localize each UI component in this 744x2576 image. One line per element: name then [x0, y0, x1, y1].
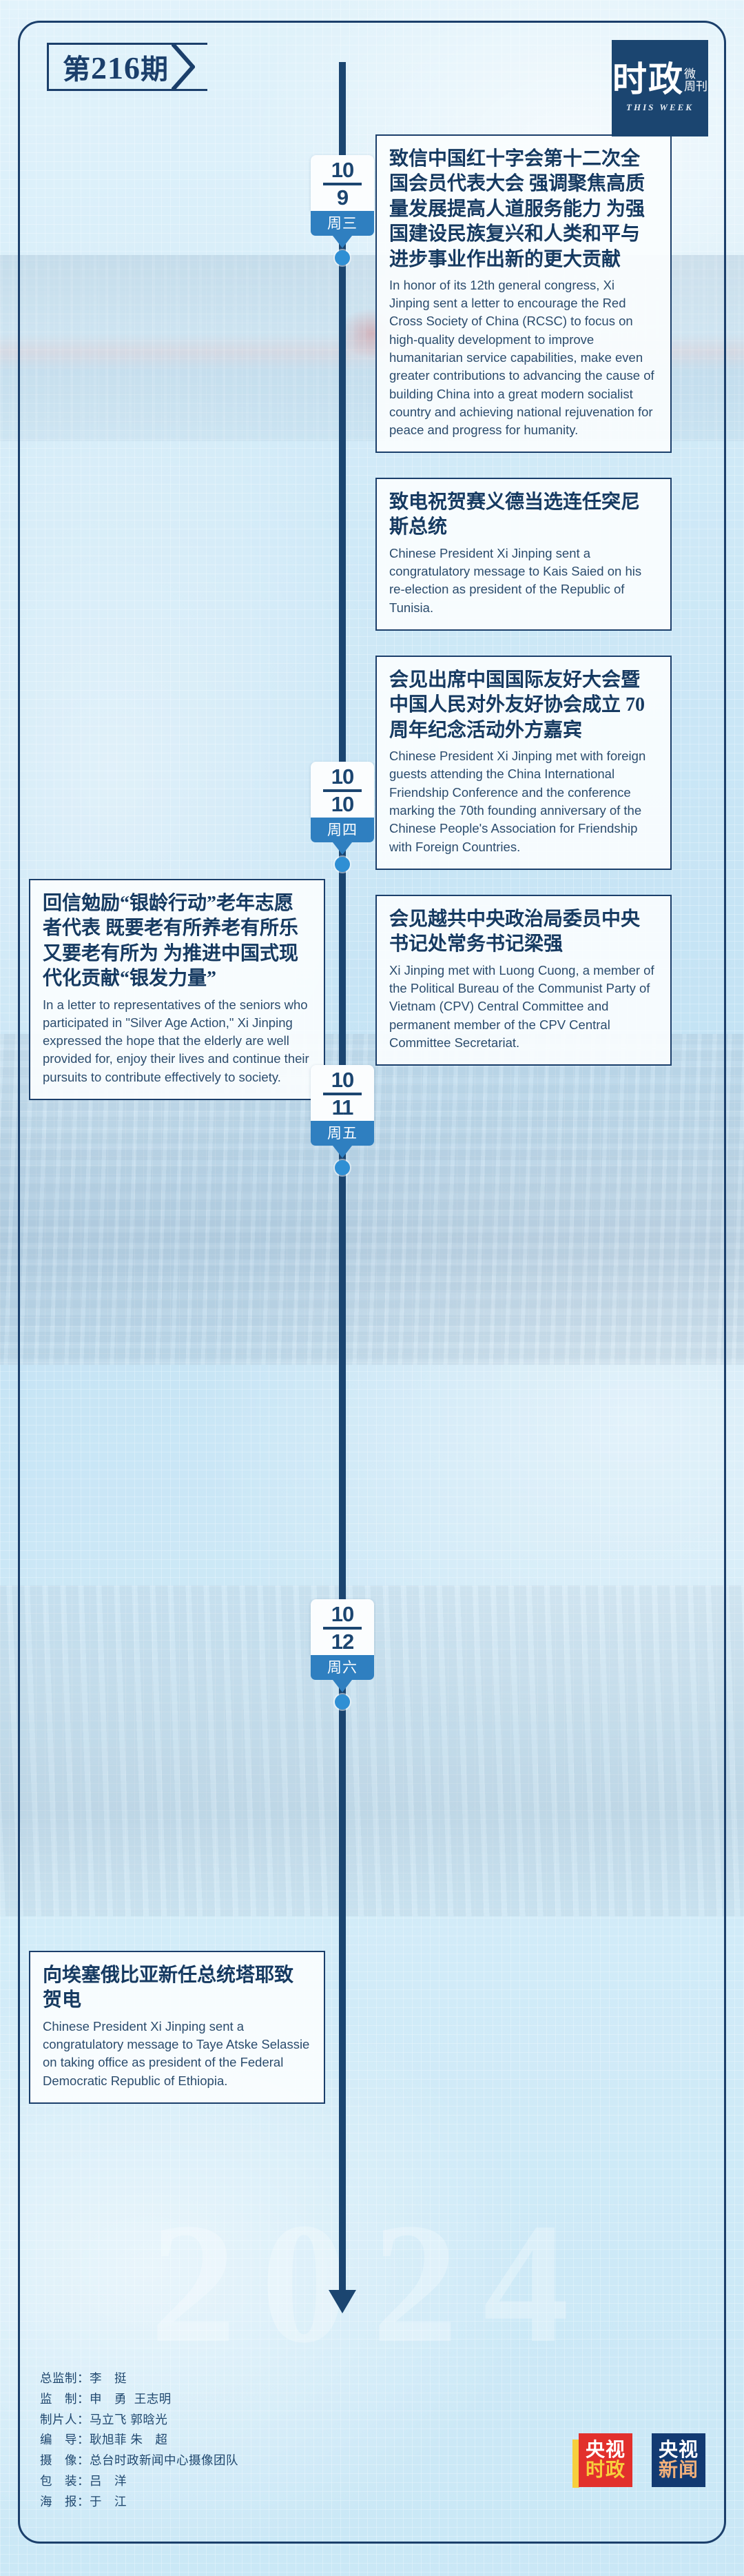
issue-prefix: 第 [63, 54, 91, 85]
marker-caret-icon [333, 842, 352, 855]
event-card[interactable]: 致电祝贺赛义德当选连任突尼斯总统Chinese President Xi Jin… [375, 478, 672, 631]
credits-block: 总监制：李 挺 监 制：申 勇 王志明 制片人：马立飞 郭晗光 编 导：耿旭菲 … [40, 2369, 238, 2512]
brand-char-wei: 微 [684, 68, 707, 81]
date-weekday: 周六 [311, 1655, 374, 1680]
event-title-cn: 会见出席中国国际友好大会暨中国人民对外友好协会成立 70 周年纪念活动外方嘉宾 [389, 668, 658, 743]
event-body-en: Chinese President Xi Jinping sent a cong… [389, 545, 658, 617]
brand-logo-cn: 时 政 微 周刊 [612, 64, 707, 95]
brand-char-zheng: 政 [648, 64, 682, 95]
timeline-node-dot [335, 1694, 350, 1710]
date-box: 109 [311, 155, 374, 211]
date-day: 9 [311, 187, 374, 209]
brand-logo-en: THIS WEEK [626, 102, 694, 113]
marker-caret-icon [333, 1680, 352, 1692]
issue-arrow-wrap [172, 43, 195, 91]
date-weekday: 周三 [311, 211, 374, 236]
event-title-cn: 致信中国红十字会第十二次全国会员代表大会 强调聚焦高质量发展提高人道服务能力 为… [389, 147, 658, 272]
brand-logo-this-week: 时 政 微 周刊 THIS WEEK [612, 40, 708, 136]
event-body-en: In a letter to representatives of the se… [43, 996, 311, 1086]
timeline-arrow-icon [329, 2290, 356, 2313]
event-title-cn: 会见越共中央政治局委员中央书记处常务书记梁强 [389, 907, 658, 957]
event-body-en: Xi Jinping met with Luong Cuong, a membe… [389, 962, 658, 1052]
footer-logo-line1: 央视 [586, 2440, 626, 2460]
event-title-cn: 致电祝贺赛义德当选连任突尼斯总统 [389, 490, 658, 540]
issue-label: 第216期 [63, 47, 169, 87]
footer-logo-navy: 央视新闻 [652, 2433, 705, 2487]
date-month: 10 [311, 1069, 374, 1091]
marker-caret-icon [333, 1146, 352, 1158]
timeline-date-marker: 1011周五 [311, 1065, 374, 1175]
event-body-en: Chinese President Xi Jinping sent a cong… [43, 2018, 311, 2090]
date-box: 1011 [311, 1065, 374, 1121]
brand-char-zhoukan: 周刊 [684, 81, 707, 93]
issue-badge: 第216期 [47, 43, 207, 91]
footer-logo-red: 央视时政 [579, 2433, 632, 2487]
date-day: 12 [311, 1631, 374, 1653]
event-card[interactable]: 回信勉励“银龄行动”老年志愿者代表 既要老有所养老有所乐又要老有所为 为推进中国… [29, 879, 325, 1100]
date-day: 10 [311, 793, 374, 815]
date-weekday: 周五 [311, 1121, 374, 1146]
footer-logo-line2: 时政 [586, 2460, 626, 2480]
brand-cn-sub: 微 周刊 [684, 68, 707, 95]
date-month: 10 [311, 159, 374, 181]
date-box: 1010 [311, 762, 374, 818]
event-card[interactable]: 致信中国红十字会第十二次全国会员代表大会 强调聚焦高质量发展提高人道服务能力 为… [375, 134, 672, 453]
timeline-axis [339, 62, 346, 2295]
date-day: 11 [311, 1097, 374, 1119]
event-card[interactable]: 向埃塞俄比亚新任总统塔耶致贺电Chinese President Xi Jinp… [29, 1951, 325, 2104]
date-box: 1012 [311, 1599, 374, 1655]
event-body-en: In honor of its 12th general congress, X… [389, 276, 658, 439]
footer-logos: 央视时政央视新闻 [579, 2433, 705, 2487]
timeline-date-marker: 109周三 [311, 155, 374, 265]
issue-suffix: 期 [141, 54, 169, 85]
timeline-node-dot [335, 250, 350, 265]
brand-char-shi: 时 [612, 64, 646, 95]
event-card[interactable]: 会见越共中央政治局委员中央书记处常务书记梁强Xi Jinping met wit… [375, 895, 672, 1066]
event-body-en: Chinese President Xi Jinping met with fo… [389, 747, 658, 856]
event-title-cn: 回信勉励“银龄行动”老年志愿者代表 既要老有所养老有所乐又要老有所为 为推进中国… [43, 891, 311, 992]
timeline-node-dot [335, 857, 350, 872]
timeline-date-marker: 1010周四 [311, 762, 374, 872]
date-weekday: 周四 [311, 818, 374, 842]
date-month: 10 [311, 1603, 374, 1625]
footer-logo-line1: 央视 [659, 2440, 699, 2460]
marker-caret-icon [333, 236, 352, 248]
issue-number: 216 [91, 50, 141, 85]
event-title-cn: 向埃塞俄比亚新任总统塔耶致贺电 [43, 1963, 311, 2014]
timeline-node-dot [335, 1160, 350, 1175]
chevron-right-icon [172, 43, 195, 91]
timeline-date-marker: 1012周六 [311, 1599, 374, 1710]
footer-logo-line2: 新闻 [659, 2460, 699, 2480]
event-card[interactable]: 会见出席中国国际友好大会暨中国人民对外友好协会成立 70 周年纪念活动外方嘉宾C… [375, 656, 672, 870]
date-month: 10 [311, 766, 374, 788]
background-watermark: 2024 [0, 2184, 744, 2383]
